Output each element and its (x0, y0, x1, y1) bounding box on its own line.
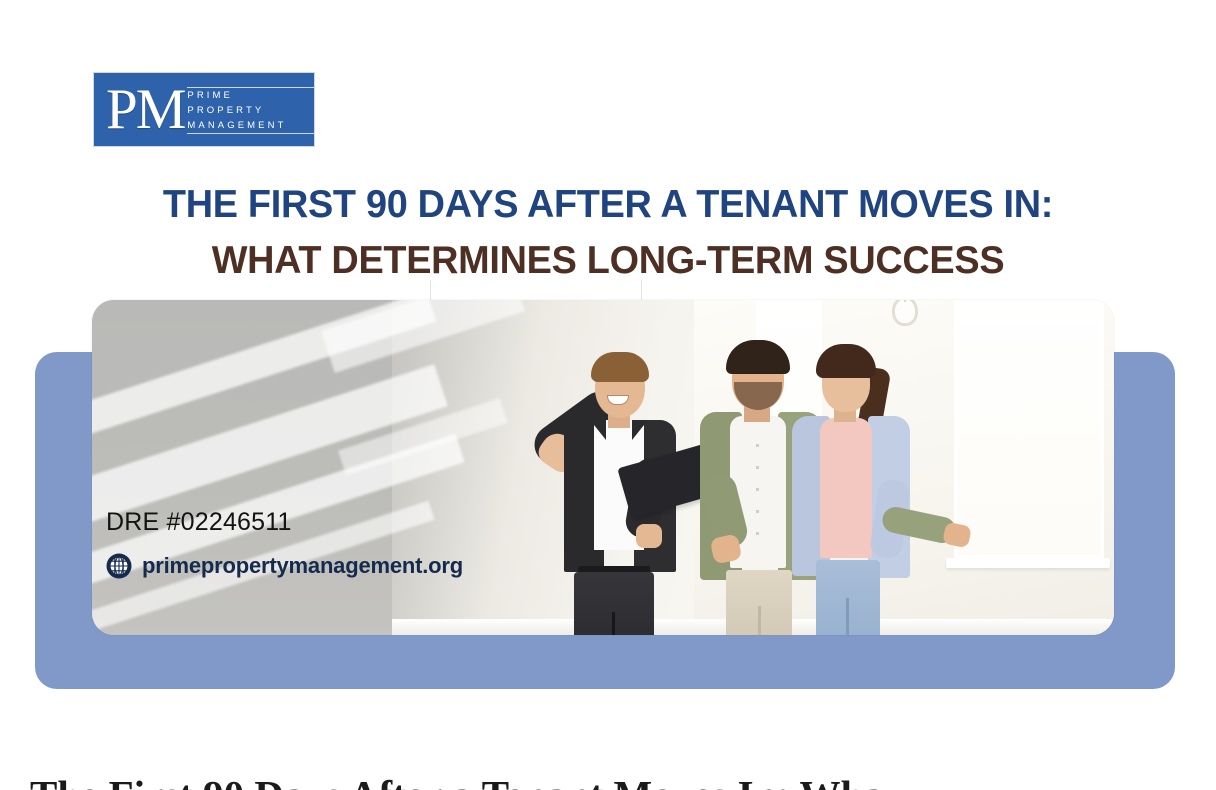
man-beard (734, 382, 782, 410)
man-trouser-seam (758, 606, 761, 635)
man-shirt-buttons (756, 444, 759, 554)
website-url[interactable]: primepropertymanagement.org (142, 553, 463, 579)
woman-hair (816, 344, 876, 378)
man-hair (726, 340, 790, 374)
logo-rule-bottom (187, 133, 314, 134)
agent-trouser-seam (612, 612, 615, 635)
brand-logo[interactable]: PM PRIME PROPERTY MANAGEMENT (93, 72, 315, 147)
agent-lower-hand (636, 524, 662, 548)
logo-word-property: PROPERTY (187, 103, 314, 118)
logo-wordmark: PRIME PROPERTY MANAGEMENT (187, 87, 314, 134)
agent-hair (591, 352, 649, 382)
agent-lapel-left (590, 420, 606, 440)
photo-figure-woman (792, 330, 922, 635)
globe-icon (106, 553, 132, 579)
page-root: PM PRIME PROPERTY MANAGEMENT THE FIRST 9… (0, 0, 1216, 790)
photo-ceiling-lamp (892, 300, 918, 326)
logo-word-prime: PRIME (187, 88, 314, 103)
dre-license-number: DRE #02246511 (106, 508, 463, 537)
photo-lamp-cord (904, 300, 906, 302)
logo-word-management: MANAGEMENT (187, 118, 314, 133)
photo-window (954, 300, 1104, 558)
logo-monogram: PM (106, 85, 184, 134)
hero-photo: DRE #02246511 (92, 300, 1114, 635)
page-title-line2: WHAT DETERMINES LONG-TERM SUCCESS (18, 238, 1198, 284)
page-title: THE FIRST 90 DAYS AFTER A TENANT MOVES I… (0, 182, 1216, 284)
article-heading: The First 90 Days After a Tenant Moves I… (30, 772, 1190, 790)
photo-window-sill (946, 558, 1110, 568)
hero-overlay-text: DRE #02246511 (106, 508, 463, 579)
woman-jeans-seam (846, 598, 849, 635)
website-row[interactable]: primepropertymanagement.org (106, 553, 463, 579)
woman-top (820, 418, 872, 558)
page-title-line1: THE FIRST 90 DAYS AFTER A TENANT MOVES I… (18, 182, 1198, 228)
agent-lapel-right (632, 420, 648, 440)
